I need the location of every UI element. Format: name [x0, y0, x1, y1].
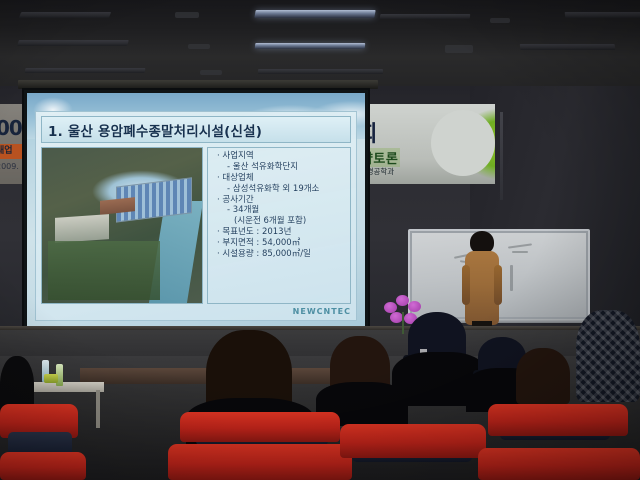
ceiling-vent-1 — [175, 12, 199, 18]
ceiling-light-7 — [520, 44, 616, 50]
slide-title-bar: 1. 울산 용암폐수종말처리시설(신설) — [41, 116, 351, 143]
ceiling-vent-5 — [445, 45, 473, 53]
photo-building — [55, 214, 109, 243]
ceiling — [0, 0, 640, 92]
ceiling-light-1 — [19, 12, 111, 18]
audience-person-scarf — [576, 310, 640, 402]
slide-title: 1. 울산 용암폐수종말처리시설(신설) — [42, 120, 262, 140]
presenter-arm-left — [462, 265, 470, 305]
whiteboard-writing — [512, 251, 528, 253]
ceiling-light-3 — [380, 14, 471, 19]
slide-footer: NEWCNTEC — [41, 304, 351, 318]
bullet-item: - 울산 석유화학단지 — [214, 162, 348, 173]
ceiling-light-2 — [254, 10, 375, 18]
ceiling-light-8 — [25, 68, 146, 73]
ceiling-vent-3 — [200, 70, 222, 75]
presenter-arm-right — [494, 265, 502, 305]
bullet-item: - 34개월 — [214, 205, 348, 216]
bullet-item: · 공사기간 — [214, 195, 348, 206]
bullet-item: · 대상업체 — [214, 173, 348, 184]
screen-surface: 1. 울산 용암폐수종말처리시설(신설) · 사업지역 - 울산 석유화학단지 … — [27, 93, 365, 327]
presenter — [462, 231, 502, 339]
seat — [488, 404, 628, 436]
slide-photo-aerial-plant — [41, 147, 203, 304]
swoosh-graphic — [409, 104, 495, 184]
flower-stem — [402, 312, 404, 334]
audience-person — [516, 348, 570, 404]
wall-pole — [500, 112, 503, 200]
ceiling-light-5 — [17, 40, 129, 46]
slide: 1. 울산 용암폐수종말처리시설(신설) · 사업지역 - 울산 석유화학단지 … — [35, 111, 357, 321]
bullet-item: (시운전 6개월 포함) — [214, 216, 348, 227]
newcntec-logo: NEWCNTEC — [293, 307, 351, 316]
seat — [0, 452, 86, 480]
flower-bloom — [408, 301, 421, 312]
ceiling-light-6 — [255, 43, 366, 49]
bullet-item: · 목표년도 : 2013년 — [214, 227, 348, 238]
whiteboard-writing — [510, 265, 513, 291]
seat — [478, 448, 640, 480]
banner-left-year: 2009. — [0, 162, 19, 171]
ceiling-vent-4 — [490, 18, 510, 23]
seat — [168, 444, 352, 480]
seat — [340, 424, 486, 458]
projection-screen: 1. 울산 용암폐수종말처리시설(신설) · 사업지역 - 울산 석유화학단지 … — [22, 88, 370, 332]
ceiling-light-9 — [258, 69, 383, 74]
snack-item — [44, 374, 58, 383]
slide-body: · 사업지역 - 울산 석유화학단지 · 대상업체 - 삼성석유화학 외 19개… — [41, 147, 351, 304]
bullet-item: · 부지면적 : 54,000㎡ — [214, 238, 348, 249]
ceiling-light-4 — [565, 12, 640, 18]
banner-left-number: 00 — [0, 116, 22, 140]
photo-vegetation — [48, 241, 160, 300]
slide-bullet-list: · 사업지역 - 울산 석유화학단지 · 대상업체 - 삼성석유화학 외 19개… — [207, 147, 351, 304]
table-leg-right — [96, 390, 100, 428]
flower-bloom — [396, 295, 409, 306]
bullet-item: · 사업지역 — [214, 151, 348, 162]
seat — [180, 412, 340, 442]
stage-step — [80, 368, 330, 384]
whiteboard-writing — [508, 243, 532, 248]
bullet-item: · 시설용량 : 85,000㎡/일 — [214, 249, 348, 260]
bullet-item: - 삼성석유화학 외 19개소 — [214, 184, 348, 195]
auditorium-photo: 00 내업 2009. 수회 공전략토론 …학교 환경공학과 1. 울산 용암폐… — [0, 0, 640, 480]
ceiling-vent-2 — [188, 44, 210, 49]
